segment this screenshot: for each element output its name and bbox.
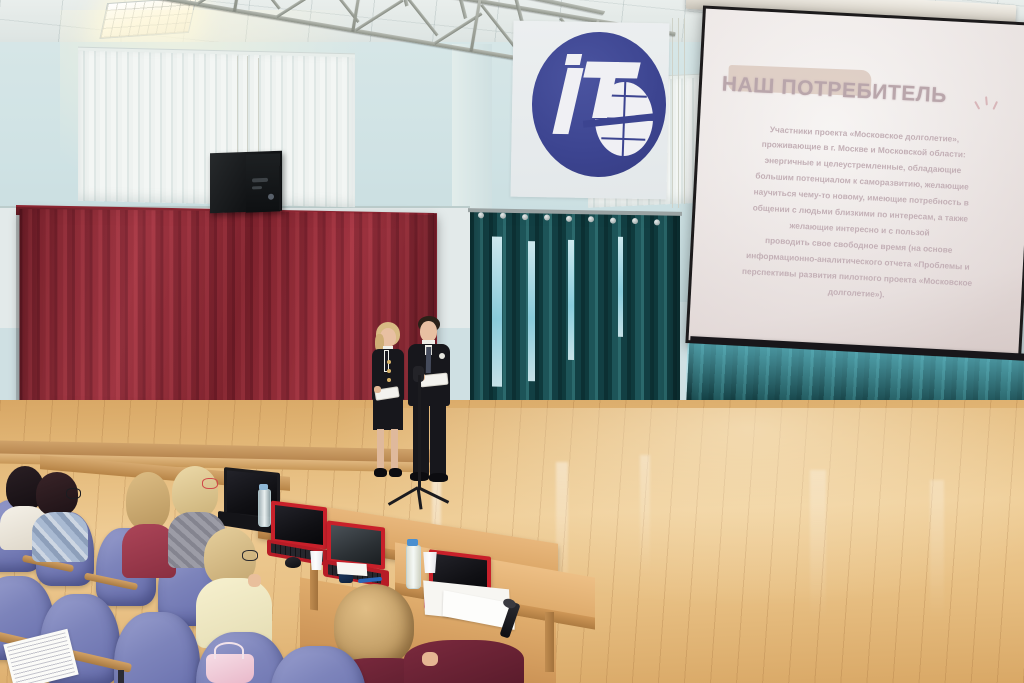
seat-post-2 [118, 670, 124, 683]
note-paper [337, 562, 368, 576]
person-3-hair [126, 472, 170, 530]
person-7-hand [422, 652, 438, 666]
floor-reflection-5 [930, 480, 944, 620]
person-4-hair [172, 466, 218, 518]
presenter-woman-button-1 [387, 360, 391, 364]
floor-reflection-3 [640, 455, 650, 575]
presenter-man [406, 316, 456, 502]
water-bottle-2-cap [407, 539, 418, 546]
water-bottle-1 [258, 489, 271, 527]
person-2-glasses-icon [66, 488, 81, 499]
floor-reflection-4 [810, 470, 826, 620]
presenter-man-leg-right [430, 404, 446, 476]
person-4-glasses-icon [202, 478, 218, 489]
table-leg-2 [545, 612, 554, 672]
logo-letter-i-dot [565, 54, 582, 65]
sparkle-decoration-icon [973, 92, 1009, 124]
projection-screen: НАШ ПОТРЕБИТЕЛЬ Участники проекта «Моско… [685, 5, 1024, 360]
water-bottle-2 [406, 545, 421, 589]
conference-hall-photo: НАШ ПОТРЕБИТЕЛЬ Участники проекта «Моско… [0, 0, 1024, 683]
presenter-woman-skirt [373, 398, 403, 430]
presenter-man-shoe-right [429, 473, 448, 482]
presenter-man-head [420, 321, 437, 342]
audience-person-5 [196, 528, 270, 646]
presenter-man-tie [426, 347, 431, 373]
slide-body-text: Участники проекта «Московское долголетие… [707, 119, 1013, 309]
blind-cord-5 [678, 18, 679, 208]
presenter-man-lapel-pin [439, 353, 445, 359]
person-5-glasses-icon [242, 550, 258, 561]
presenter-woman-leg-left [377, 429, 384, 471]
person-2-clothing [32, 512, 88, 562]
presenter-man-leg-left [413, 404, 429, 476]
presenter-woman-hand [374, 386, 381, 393]
audience-person-2 [32, 472, 86, 558]
blind-cord-6 [684, 18, 685, 204]
presenter-woman-button-3 [387, 378, 391, 382]
water-bottle-1-cap [259, 484, 268, 490]
audience-person-7 [404, 640, 524, 683]
speaker-cable [279, 166, 281, 210]
microphone-stand-pole [418, 375, 421, 490]
microphone-stand-base [418, 486, 421, 489]
pink-handbag-handle [214, 642, 244, 659]
presenter-woman [367, 322, 409, 492]
speaker-cabinet-front-panel [246, 153, 280, 212]
presenter-woman-shoe-left [374, 468, 387, 477]
computer-mouse [285, 557, 301, 568]
presenter-woman-shoe-right [389, 468, 402, 477]
presenter-woman-leg-right [391, 429, 398, 471]
presenter-woman-button-2 [387, 369, 391, 373]
person-5-hand [248, 574, 261, 587]
